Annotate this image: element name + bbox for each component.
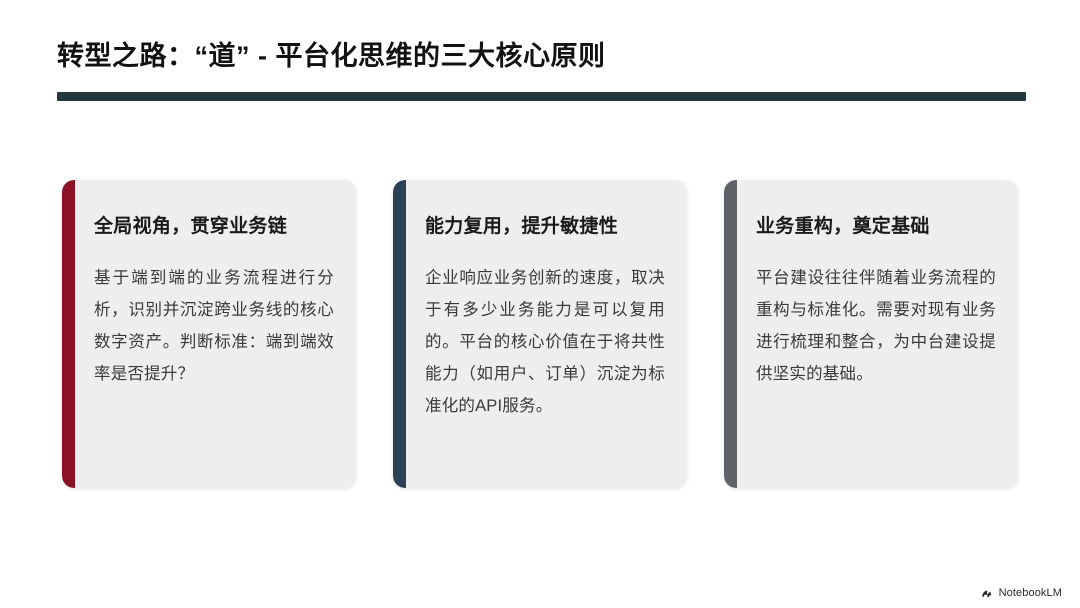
principle-card-3: 业务重构，奠定基础 平台建设往往伴随着业务流程的重构与标准化。需要对现有业务进行…	[724, 180, 1018, 488]
principle-card-2: 能力复用，提升敏捷性 企业响应业务创新的速度，取决于有多少业务能力是可以复用的。…	[393, 180, 687, 488]
card-title-3: 业务重构，奠定基础	[756, 214, 996, 240]
title-divider	[57, 92, 1026, 101]
notebooklm-logo-icon	[981, 587, 994, 600]
card-body-3: 业务重构，奠定基础 平台建设往往伴随着业务流程的重构与标准化。需要对现有业务进行…	[737, 180, 1018, 488]
card-body-1: 全局视角，贯穿业务链 基于端到端的业务流程进行分析，识别并沉淀跨业务线的核心数字…	[75, 180, 356, 488]
card-body-2: 能力复用，提升敏捷性 企业响应业务创新的速度，取决于有多少业务能力是可以复用的。…	[406, 180, 687, 488]
card-text-2: 企业响应业务创新的速度，取决于有多少业务能力是可以复用的。平台的核心价值在于将共…	[425, 262, 665, 422]
slide-header: 转型之路：“道” - 平台化思维的三大核心原则	[57, 36, 1026, 101]
page-title: 转型之路：“道” - 平台化思维的三大核心原则	[57, 36, 1026, 76]
notebooklm-watermark: NotebookLM	[981, 586, 1062, 600]
slide-root: 转型之路：“道” - 平台化思维的三大核心原则 全局视角，贯穿业务链 基于端到端…	[0, 0, 1080, 608]
watermark-label: NotebookLM	[999, 586, 1062, 600]
card-accent-bar-gray	[724, 180, 737, 488]
principle-card-1: 全局视角，贯穿业务链 基于端到端的业务流程进行分析，识别并沉淀跨业务线的核心数字…	[62, 180, 356, 488]
card-accent-bar-crimson	[62, 180, 75, 488]
card-title-2: 能力复用，提升敏捷性	[425, 214, 665, 240]
card-accent-bar-navy	[393, 180, 406, 488]
card-text-3: 平台建设往往伴随着业务流程的重构与标准化。需要对现有业务进行梳理和整合，为中台建…	[756, 262, 996, 390]
principle-card-list: 全局视角，贯穿业务链 基于端到端的业务流程进行分析，识别并沉淀跨业务线的核心数字…	[62, 180, 1018, 488]
card-text-1: 基于端到端的业务流程进行分析，识别并沉淀跨业务线的核心数字资产。判断标准：端到端…	[94, 262, 334, 390]
card-title-1: 全局视角，贯穿业务链	[94, 214, 334, 240]
